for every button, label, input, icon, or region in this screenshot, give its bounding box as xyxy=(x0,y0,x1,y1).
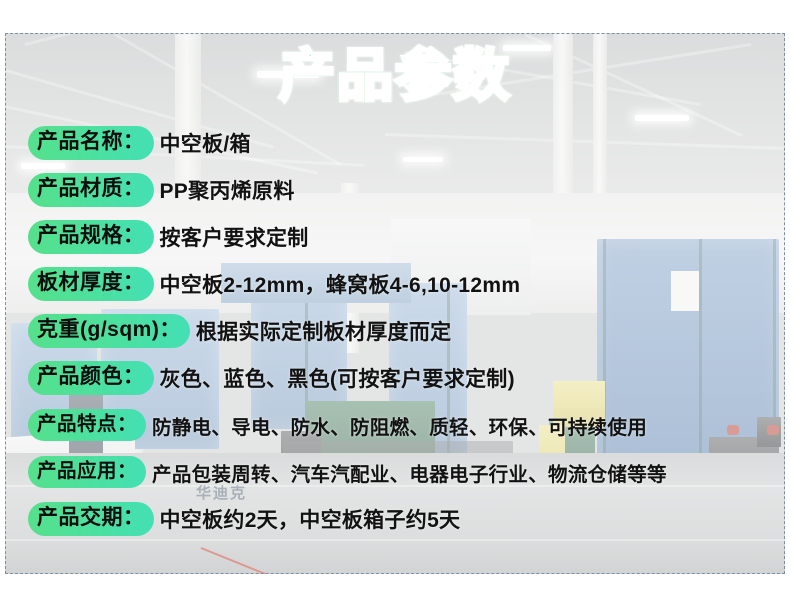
spec-list: 产品名称： 中空板/箱 产品材质： PP聚丙烯原料 产品规格： 按客户要求定制 … xyxy=(28,124,768,547)
spec-label: 产品应用： xyxy=(28,456,146,488)
ceiling-lamp xyxy=(635,115,689,121)
spec-row: 产品材质： PP聚丙烯原料 xyxy=(28,171,768,209)
spec-value: 灰色、蓝色、黑色(可按客户要求定制) xyxy=(160,363,515,393)
page-title: 产品参数 xyxy=(0,48,790,104)
spec-value: 根据实际定制板材厚度而定 xyxy=(196,316,452,346)
spec-label: 产品名称： xyxy=(28,126,154,160)
product-spec-banner: 华迪克 产品参数 产品名称： 中空板/箱 产品材质： PP聚丙烯原料 产品规格：… xyxy=(0,0,790,605)
spec-value: 产品包装周转、汽车汽配业、电器电子行业、物流仓储等等 xyxy=(152,458,667,487)
spec-row: 板材厚度： 中空板2-12mm，蜂窝板4-6,10-12mm xyxy=(28,265,768,303)
machine-valve-handle xyxy=(767,425,779,435)
spec-label: 产品特点： xyxy=(28,409,146,441)
spec-value: 中空板/箱 xyxy=(160,128,251,158)
spec-value: 中空板约2天，中空板箱子约5天 xyxy=(160,504,461,534)
spec-value: 按客户要求定制 xyxy=(160,222,309,252)
spec-label: 产品规格： xyxy=(28,220,154,254)
spec-row: 产品规格： 按客户要求定制 xyxy=(28,218,768,256)
spec-label: 产品材质： xyxy=(28,173,154,207)
spec-label: 克重(g/sqm)： xyxy=(28,314,190,348)
spec-row: 产品应用： 产品包装周转、汽车汽配业、电器电子行业、物流仓储等等 xyxy=(28,453,768,491)
spec-label: 产品颜色： xyxy=(28,361,154,395)
spec-row: 产品颜色： 灰色、蓝色、黑色(可按客户要求定制) xyxy=(28,359,768,397)
spec-label: 产品交期： xyxy=(28,502,154,536)
spec-row: 产品名称： 中空板/箱 xyxy=(28,124,768,162)
spec-value: PP聚丙烯原料 xyxy=(160,175,295,205)
spec-row: 克重(g/sqm)： 根据实际定制板材厚度而定 xyxy=(28,312,768,350)
spec-value: 防静电、导电、防水、防阻燃、质轻、环保、可持续使用 xyxy=(152,411,647,440)
spec-row: 产品特点： 防静电、导电、防水、防阻燃、质轻、环保、可持续使用 xyxy=(28,406,768,444)
spec-value: 中空板2-12mm，蜂窝板4-6,10-12mm xyxy=(160,269,521,299)
spec-label: 板材厚度： xyxy=(28,267,154,301)
spec-row: 产品交期： 中空板约2天，中空板箱子约5天 xyxy=(28,500,768,538)
